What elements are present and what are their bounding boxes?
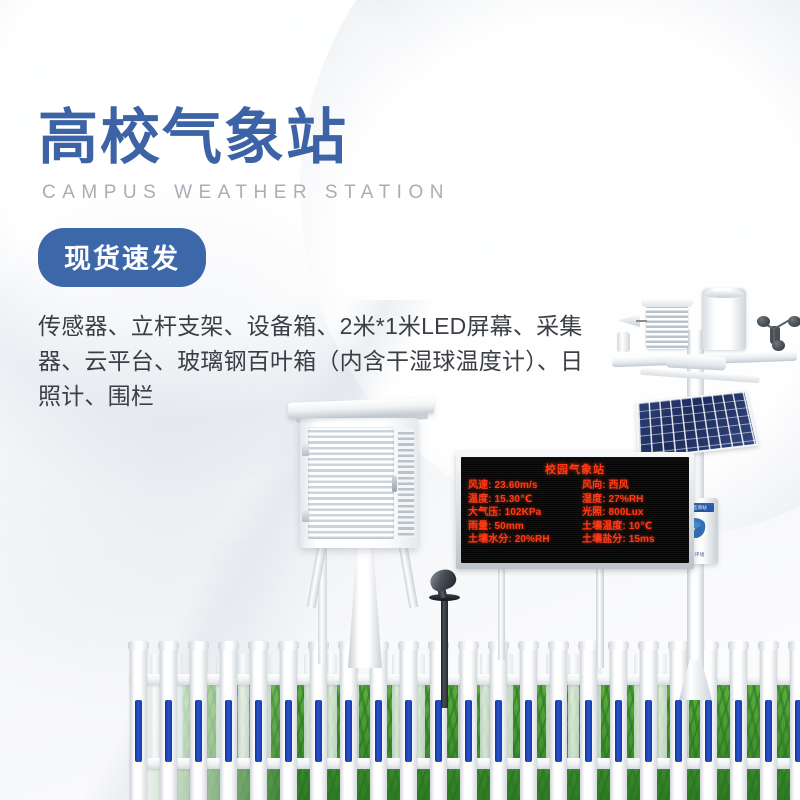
- shelter-hinge-icon: [302, 444, 309, 456]
- shelter-louvers-side: [398, 429, 414, 537]
- fence-post: [520, 648, 537, 800]
- fence-post-cap: [638, 641, 659, 650]
- fence-post-cap: [188, 641, 209, 650]
- led-display-row: 雨量: 50mm土壤温度: 10℃: [468, 521, 682, 533]
- led-display-row: 大气压: 102KPa光照: 800Lux: [468, 507, 682, 519]
- solar-panel: [636, 390, 759, 459]
- led-reading-left: 土壤水分: 20%RH: [468, 534, 582, 546]
- fence-post-cap: [788, 641, 800, 650]
- stock-badge: 现货速发: [38, 228, 206, 287]
- fence-post: [490, 648, 507, 800]
- headline-block: 高校气象站 CAMPUS WEATHER STATION 现货速发 传感器、立杆…: [38, 108, 638, 414]
- led-reading-right: 土壤温度: 10℃: [582, 521, 682, 533]
- fence-post-stripe: [255, 700, 262, 762]
- sunshine-recorder-head: [427, 566, 459, 594]
- page-subtitle: CAMPUS WEATHER STATION: [42, 182, 638, 204]
- rain-gauge-icon: [702, 288, 746, 350]
- fence-post: [160, 648, 177, 800]
- anemometer-icon: [752, 300, 800, 350]
- fence-post-cap: [458, 641, 479, 650]
- fence-post-stripe: [375, 700, 382, 762]
- fence-post-stripe: [465, 700, 472, 762]
- sensor-housing: [666, 354, 727, 370]
- fence-post-stripe: [405, 700, 412, 762]
- fence-post: [310, 648, 327, 800]
- radiation-shield-top: [641, 298, 693, 307]
- fence-post-cap: [218, 641, 239, 650]
- led-reading-left: 雨量: 50mm: [468, 521, 582, 533]
- led-display-stand-right: [596, 556, 604, 668]
- fence-post-cap: [158, 641, 179, 650]
- fence-post: [580, 648, 597, 800]
- shelter-hinge-icon: [302, 510, 309, 522]
- fence-post: [670, 648, 687, 800]
- fence-post: [460, 648, 477, 800]
- fence-post-stripe: [225, 700, 232, 762]
- fence-post: [760, 648, 777, 800]
- fence-post-stripe: [705, 700, 712, 762]
- fence-post: [610, 648, 627, 800]
- fence-post: [370, 648, 387, 800]
- fence-post: [400, 648, 417, 800]
- led-reading-left: 大气压: 102KPa: [468, 507, 582, 519]
- fence-post-stripe: [135, 700, 142, 762]
- radiation-shield-icon: [646, 303, 688, 349]
- sunshine-recorder-pole: [441, 598, 448, 708]
- led-reading-right: 风向: 西风: [582, 480, 682, 492]
- fence-post: [130, 648, 147, 800]
- led-reading-left: 温度: 15.30℃: [468, 494, 582, 506]
- fence-post-stripe: [345, 700, 352, 762]
- fence-post-cap: [128, 641, 149, 650]
- solar-panel-cells: [638, 392, 756, 457]
- fence-post: [550, 648, 567, 800]
- fence-post-stripe: [555, 700, 562, 762]
- page-title: 高校气象站: [38, 108, 638, 168]
- anemometer-cup: [772, 340, 785, 351]
- fence-post-cap: [758, 641, 779, 650]
- fence-post: [730, 648, 747, 800]
- product-description: 传感器、立杆支架、设备箱、2米*1米LED屏幕、采集器、云平台、玻璃钢百叶箱（内…: [38, 309, 598, 414]
- led-reading-left: 风速: 23.60m/s: [468, 480, 582, 492]
- anemometer-cup: [788, 316, 800, 327]
- led-display-rows: 风速: 23.60m/s风向: 西风温度: 15.30℃湿度: 27%RH大气压…: [468, 480, 682, 546]
- poster-root: 高校气象站 CAMPUS WEATHER STATION 现货速发 传感器、立杆…: [0, 0, 800, 800]
- fence-post-cap: [278, 641, 299, 650]
- shelter-leg: [399, 546, 419, 609]
- led-display-row: 温度: 15.30℃湿度: 27%RH: [468, 494, 682, 506]
- fence-post-stripe: [645, 700, 652, 762]
- led-reading-right: 湿度: 27%RH: [582, 494, 682, 506]
- led-display-title: 校园气象站: [468, 461, 682, 477]
- fence-post-cap: [518, 641, 539, 650]
- shelter-door-latch-icon: [392, 476, 397, 492]
- fence-post-stripe: [735, 700, 742, 762]
- led-display-panel: 校园气象站 风速: 23.60m/s风向: 西风温度: 15.30℃湿度: 27…: [456, 452, 694, 569]
- fence-post-cap: [668, 641, 689, 650]
- fence-post-cap: [548, 641, 569, 650]
- fence-post-cap: [728, 641, 749, 650]
- fence-post-stripe: [675, 700, 682, 762]
- fence-post-stripe: [585, 700, 592, 762]
- fence-post: [190, 648, 207, 800]
- fence-post: [220, 648, 237, 800]
- fence-post-stripe: [315, 700, 322, 762]
- led-display-stand-left: [498, 556, 505, 660]
- fence-post-stripe: [195, 700, 202, 762]
- fence-post: [280, 648, 297, 800]
- anemometer-cup: [757, 316, 770, 327]
- led-reading-right: 土壤盐分: 15ms: [582, 534, 682, 546]
- fence-post-stripe: [495, 700, 502, 762]
- led-reading-right: 光照: 800Lux: [582, 507, 682, 519]
- fence-post-cap: [398, 641, 419, 650]
- led-display-row: 土壤水分: 20%RH土壤盐分: 15ms: [468, 534, 682, 546]
- led-display-screen: 校园气象站 风速: 23.60m/s风向: 西风温度: 15.30℃湿度: 27…: [461, 457, 689, 563]
- fence-post: [250, 648, 267, 800]
- shelter-pedestal: [348, 548, 382, 668]
- fence-post-cap: [608, 641, 629, 650]
- fence-post-stripe: [435, 700, 442, 762]
- fence-post-stripe: [285, 700, 292, 762]
- fence-post-stripe: [525, 700, 532, 762]
- louvered-instrument-shelter: [300, 418, 418, 548]
- fence-post-cap: [248, 641, 269, 650]
- fence-post-stripe: [615, 700, 622, 762]
- fence-post-stripe: [165, 700, 172, 762]
- fence-post: [340, 648, 357, 800]
- shelter-louvers-front: [308, 427, 394, 539]
- led-display-row: 风速: 23.60m/s风向: 西风: [468, 480, 682, 492]
- fence-post: [790, 648, 800, 800]
- fence-post-stripe: [765, 700, 772, 762]
- fence-post-stripe: [795, 700, 800, 762]
- fence-post: [640, 648, 657, 800]
